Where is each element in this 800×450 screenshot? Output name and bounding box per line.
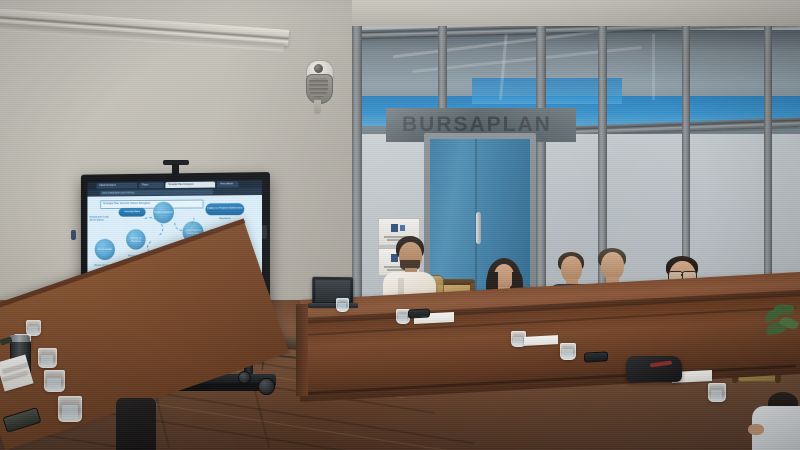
display-sensor-icon xyxy=(71,230,76,240)
water-glass[interactable] xyxy=(560,343,576,360)
water-glass[interactable] xyxy=(38,348,57,368)
laptop-base xyxy=(308,303,358,308)
smartphone[interactable] xyxy=(584,351,608,362)
speaker-grill xyxy=(309,78,328,98)
eyeglasses-bridge xyxy=(681,274,683,276)
address-bar-text: www.stratejikplan.gov.tr/dongu xyxy=(102,191,134,194)
conference-room-photo: BURSAPLAN xyxy=(0,0,800,450)
dark-chair[interactable] xyxy=(116,398,156,450)
water-glass[interactable] xyxy=(58,396,82,422)
caster-wheel xyxy=(258,378,275,395)
smartphone[interactable] xyxy=(408,308,430,318)
caster-wheel xyxy=(238,371,251,384)
diagram-node-pill: Geleceğe Bakış xyxy=(119,208,146,217)
slide-side-note: Stratejik plan 5 yıllık dönemi kapsar. xyxy=(89,216,113,222)
door-handle[interactable] xyxy=(476,212,481,244)
water-glass[interactable] xyxy=(336,298,349,312)
display-side-button[interactable] xyxy=(262,225,267,239)
belt-bag[interactable] xyxy=(626,356,682,382)
browser-tab-label: Yeni sekme xyxy=(220,183,233,186)
water-glass[interactable] xyxy=(44,370,65,392)
diagram-node-circle: Durum Analizi xyxy=(95,239,115,260)
water-glass[interactable] xyxy=(708,383,726,402)
head xyxy=(601,252,624,280)
outdoor-plant xyxy=(760,300,800,360)
table-end-panel xyxy=(296,304,308,397)
slide-title: Stratejik Plan Hazırlık Süreci Döngüsü xyxy=(103,201,150,205)
speaker-stem xyxy=(314,100,321,114)
browser-tab-label: Stratejik Plan Döngüsü xyxy=(168,183,193,186)
browser-tab-label: Rapor xyxy=(142,184,149,187)
papers-notebook[interactable] xyxy=(524,335,558,346)
browser-tab-label: Dijital Dönüşüm xyxy=(99,184,116,187)
diagram-node-pill: Faaliyet ve Projelerin Belirlenmesi xyxy=(205,203,244,215)
hand xyxy=(748,424,764,435)
speaker-indicator-icon xyxy=(314,64,323,73)
